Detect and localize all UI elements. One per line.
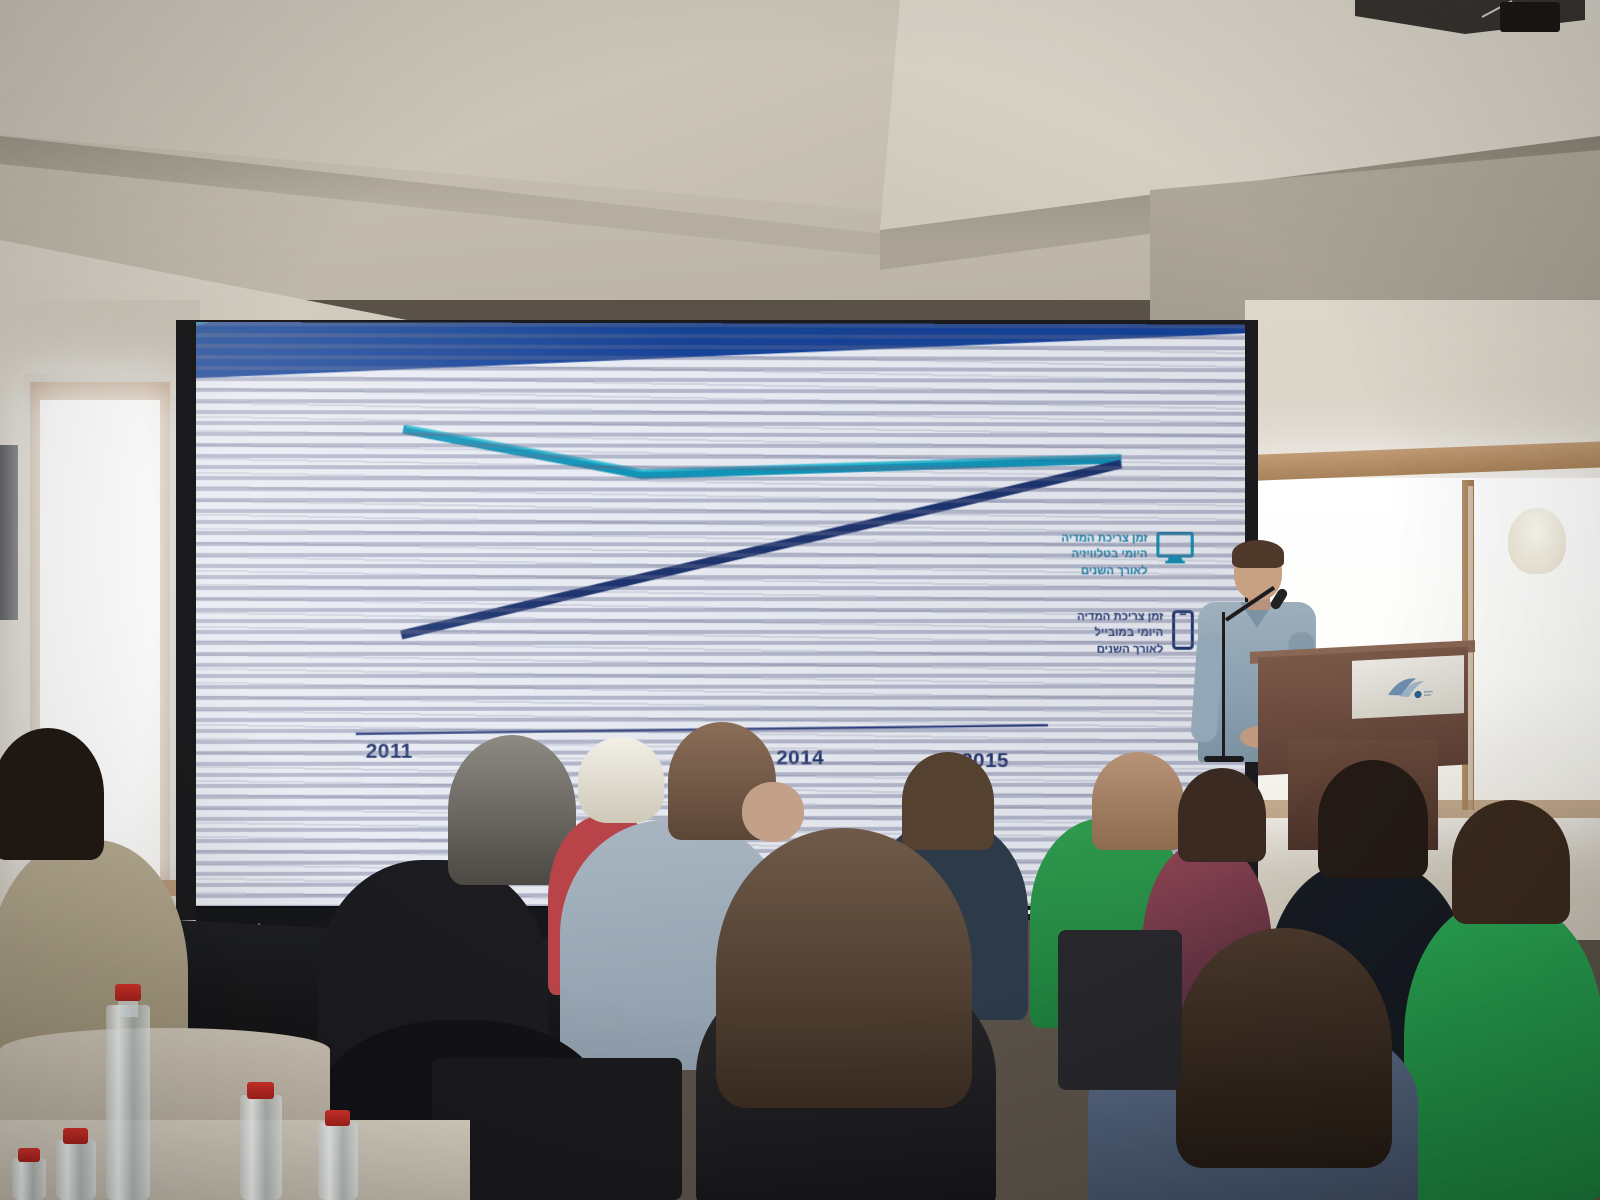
ceiling-lamp bbox=[1508, 508, 1566, 574]
bottle-cap bbox=[247, 1082, 274, 1099]
water-bottle bbox=[318, 1122, 358, 1200]
x-tick-2011: 2011 bbox=[366, 740, 413, 764]
audience-head bbox=[1178, 768, 1266, 862]
legend-tv-line1: זמן צריכת המדיה bbox=[1061, 531, 1147, 547]
monitor-icon bbox=[1156, 532, 1193, 564]
legend-tv-line3: לאורך השנים bbox=[1061, 563, 1147, 579]
audience-hand bbox=[742, 782, 804, 842]
audience-body bbox=[1404, 900, 1600, 1200]
water-bottle bbox=[106, 1005, 150, 1200]
speaker-hair bbox=[1232, 540, 1284, 568]
ceiling-camera bbox=[1500, 2, 1560, 32]
legend-mobile-text: זמן צריכת המדיה היומי במובייל לאורך השני… bbox=[1077, 609, 1163, 658]
smartphone-icon bbox=[1172, 610, 1194, 650]
legend-item-tv: זמן צריכת המדיה היומי בטלוויזיה לאורך הש… bbox=[997, 531, 1194, 580]
bottle-cap bbox=[325, 1110, 350, 1126]
conference-room-photo: 2011 2014 2015 זמן צריכת המדיה היומי בטל… bbox=[0, 0, 1600, 1200]
audience-head bbox=[1318, 760, 1428, 878]
legend-mobile-line1: זמן צריכת המדיה bbox=[1077, 609, 1163, 625]
audience-head-front bbox=[716, 828, 972, 1108]
microphone-stand bbox=[1222, 612, 1225, 762]
audience-head bbox=[0, 728, 104, 860]
legend-item-mobile: זמן צריכת המדיה היומי במובייל לאורך השני… bbox=[997, 609, 1194, 658]
legend-mobile-line2: היומי במובייל bbox=[1077, 625, 1163, 641]
audience-head-front bbox=[1176, 928, 1392, 1168]
legend-tv-text: זמן צריכת המדיה היומי בטלוויזיה לאורך הש… bbox=[1061, 531, 1147, 580]
water-bottle bbox=[12, 1158, 46, 1200]
water-bottle bbox=[56, 1140, 96, 1200]
chart-legend: זמן צריכת המדיה היומי בטלוויזיה לאורך הש… bbox=[997, 531, 1194, 688]
bottle-cap bbox=[115, 984, 141, 1001]
bottle-cap bbox=[18, 1148, 40, 1162]
water-bottle bbox=[240, 1095, 282, 1200]
wall-artwork bbox=[0, 445, 18, 620]
microphone-base bbox=[1204, 756, 1244, 762]
audience-head bbox=[902, 752, 994, 850]
legend-mobile-line3: לאורך השנים bbox=[1077, 641, 1163, 657]
bird-logo bbox=[1382, 671, 1434, 704]
chart-line-tv bbox=[408, 430, 1117, 475]
chair bbox=[1058, 930, 1182, 1090]
audience-head bbox=[1452, 800, 1570, 924]
podium-logo-panel bbox=[1352, 655, 1464, 719]
x-tick-2014: 2014 bbox=[776, 746, 824, 770]
audience-head bbox=[1092, 752, 1184, 850]
legend-tv-line2: היומי בטלוויזיה bbox=[1061, 547, 1147, 563]
audience-head-white-cap bbox=[578, 737, 664, 823]
bottle-cap bbox=[63, 1128, 88, 1144]
